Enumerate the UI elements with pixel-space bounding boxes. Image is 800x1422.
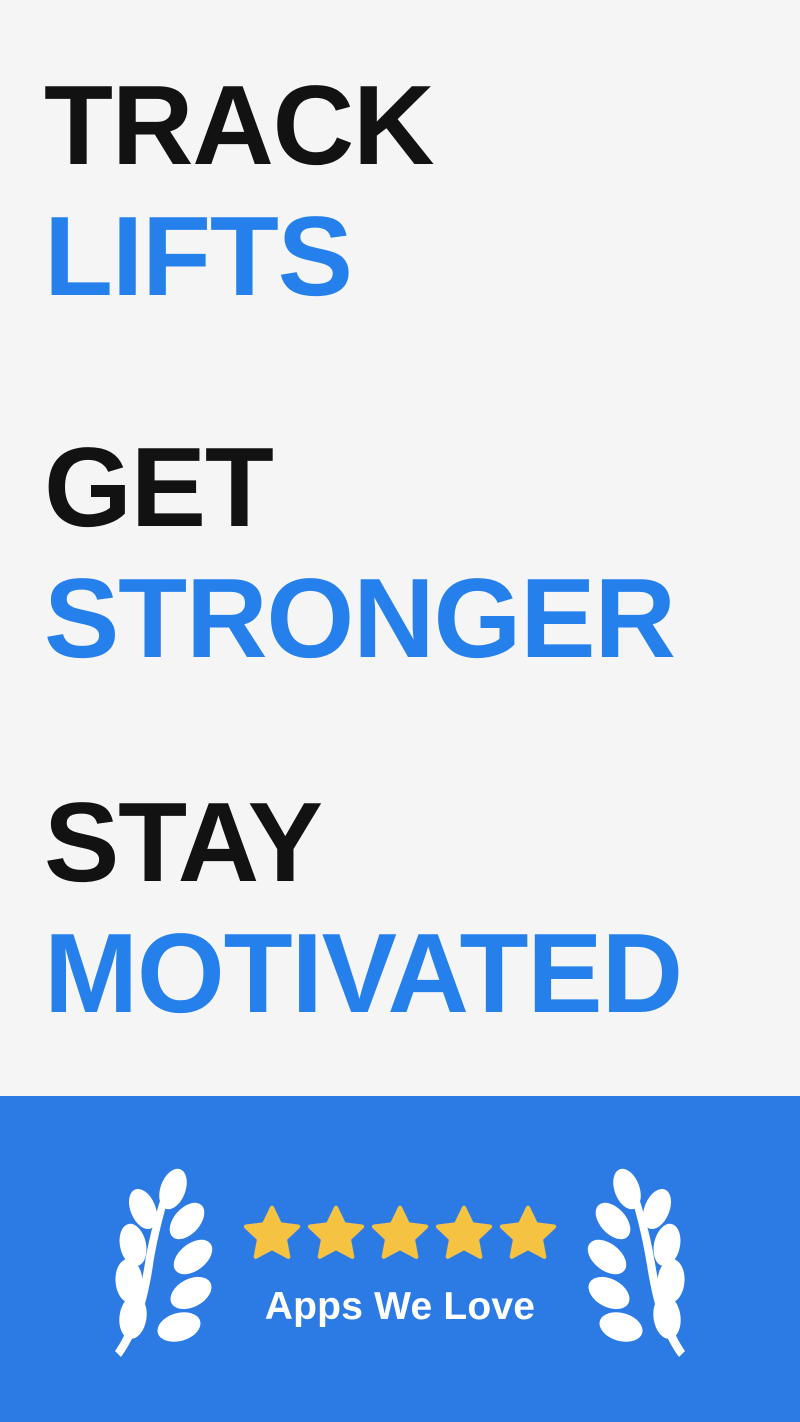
promo-screen: TRACK LIFTS GET STRONGER STAY MOTIVATED [0, 0, 800, 1422]
award-banner: Apps We Love [0, 1096, 800, 1422]
headline-block-2: GET STRONGER [44, 422, 675, 684]
headline-3-accent-word: MOTIVATED [44, 908, 682, 1039]
award-center: Apps We Love [225, 1201, 575, 1329]
headline-2-dark-word: GET [44, 422, 675, 553]
star-icon [241, 1201, 303, 1263]
headline-1-dark-word: TRACK [44, 60, 433, 191]
laurel-branch-icon [581, 1167, 693, 1363]
headline-block-3: STAY MOTIVATED [44, 777, 682, 1039]
laurel-branch-icon [107, 1167, 219, 1363]
headline-3-dark-word: STAY [44, 777, 682, 908]
star-icon [433, 1201, 495, 1263]
star-icon [369, 1201, 431, 1263]
award-badge: Apps We Love [107, 1167, 693, 1363]
award-label: Apps We Love [265, 1285, 535, 1329]
star-icon [305, 1201, 367, 1263]
star-rating [241, 1201, 559, 1263]
star-icon [497, 1201, 559, 1263]
headline-2-accent-word: STRONGER [44, 553, 675, 684]
headline-1-accent-word: LIFTS [44, 191, 433, 322]
headline-block-1: TRACK LIFTS [44, 60, 433, 322]
